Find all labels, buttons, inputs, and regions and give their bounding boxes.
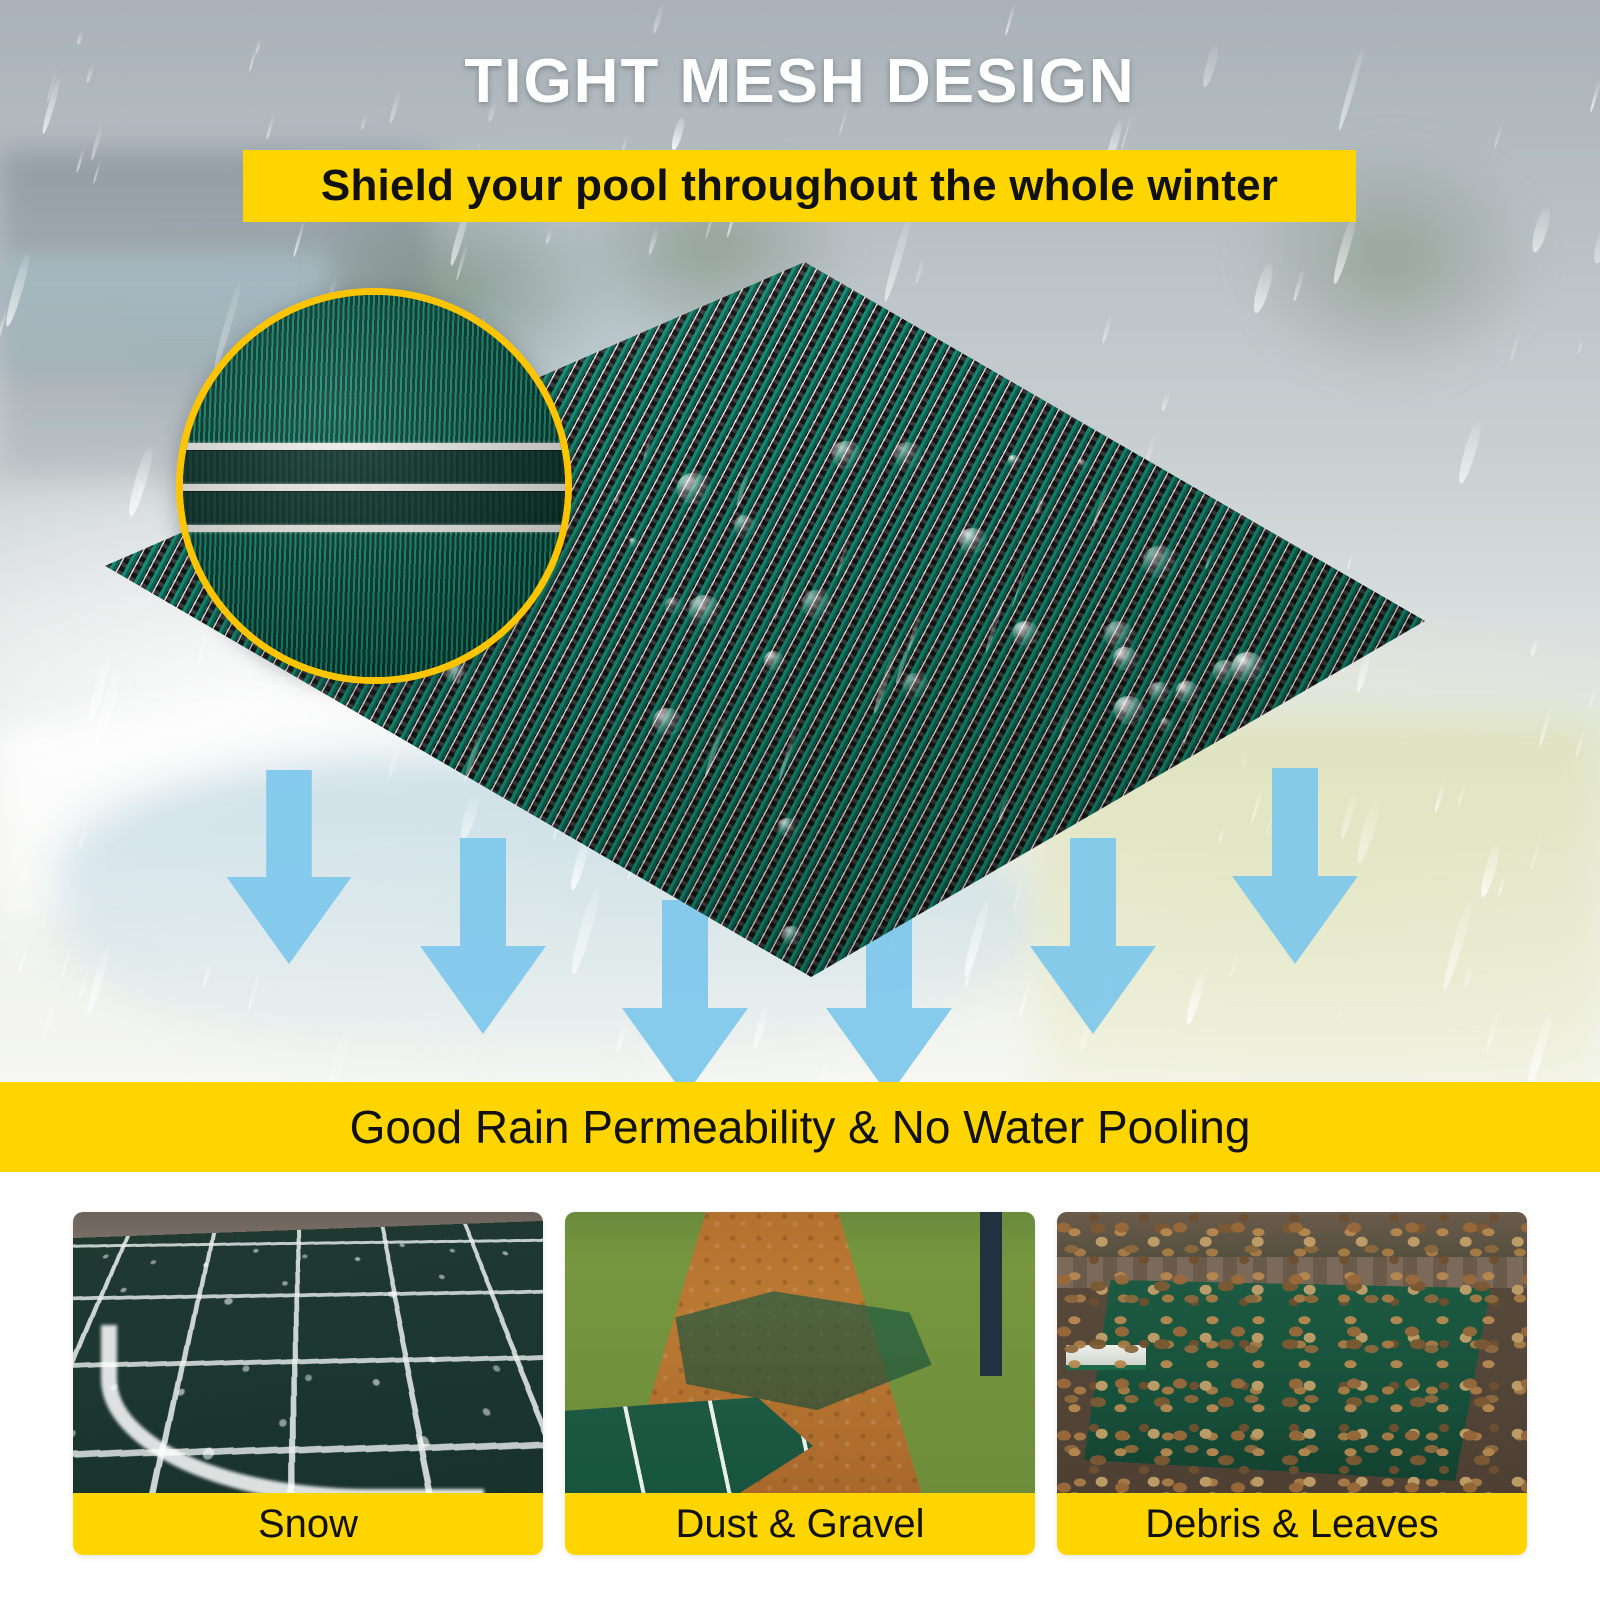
permeability-banner: Good Rain Permeability & No Water Poolin… [0,1082,1600,1172]
fallen-leaves [1057,1212,1527,1495]
card-caption-text: Dust & Gravel [676,1502,925,1547]
feature-card-row: Snow Dust & Gravel [0,1212,1600,1562]
subtitle-text: Shield your pool throughout the whole wi… [321,161,1278,211]
card-caption-dust: Dust & Gravel [565,1493,1035,1555]
dust-photo-base [565,1212,1035,1495]
magnifier-circle-icon [176,288,572,684]
feature-card-debris[interactable]: Debris & Leaves [1057,1212,1527,1555]
feature-card-dust[interactable]: Dust & Gravel [565,1212,1035,1555]
water-droplet-icon [1113,647,1137,668]
water-droplet-icon [802,590,831,617]
page-title: TIGHT MESH DESIGN [0,46,1600,117]
card-caption-debris: Debris & Leaves [1057,1493,1527,1555]
water-droplet-icon [734,515,755,534]
debris-photo-base [1057,1212,1527,1495]
water-droplet-icon [778,818,796,834]
subtitle-banner: Shield your pool throughout the whole wi… [243,150,1356,222]
feature-card-snow[interactable]: Snow [73,1212,543,1555]
water-droplet-icon [1176,681,1196,699]
water-droplet-icon [764,651,783,668]
snow-photo-base [73,1212,543,1495]
water-droplet-icon [1104,621,1132,647]
water-droplet-icon [653,708,681,733]
water-droplet-icon [677,473,709,502]
product-feature-image: TIGHT MESH DESIGN Shield your pool throu… [0,0,1600,1600]
water-droplet-icon [903,673,928,695]
hero-section: TIGHT MESH DESIGN Shield your pool throu… [0,0,1600,1090]
card-caption-text: Snow [258,1502,358,1547]
water-droplet-icon [782,926,801,943]
water-droplet-icon [1143,546,1176,575]
water-droplet-icon [629,538,637,545]
water-droplet-icon [894,442,920,466]
water-droplet-icon [1114,696,1143,722]
water-droplet-icon [689,595,720,623]
snow-covered-pool-photo [73,1212,543,1495]
dust-gravel-pool-photo [565,1212,1035,1495]
debris-leaves-pool-photo [1057,1212,1527,1495]
water-droplet-icon [1149,682,1169,700]
permeability-banner-text: Good Rain Permeability & No Water Poolin… [350,1100,1251,1154]
card-caption-snow: Snow [73,1493,543,1555]
water-droplet-icon [832,441,859,465]
card-caption-text: Debris & Leaves [1145,1502,1438,1547]
magnifier-shading [183,295,565,677]
fence-pole [980,1212,1002,1376]
